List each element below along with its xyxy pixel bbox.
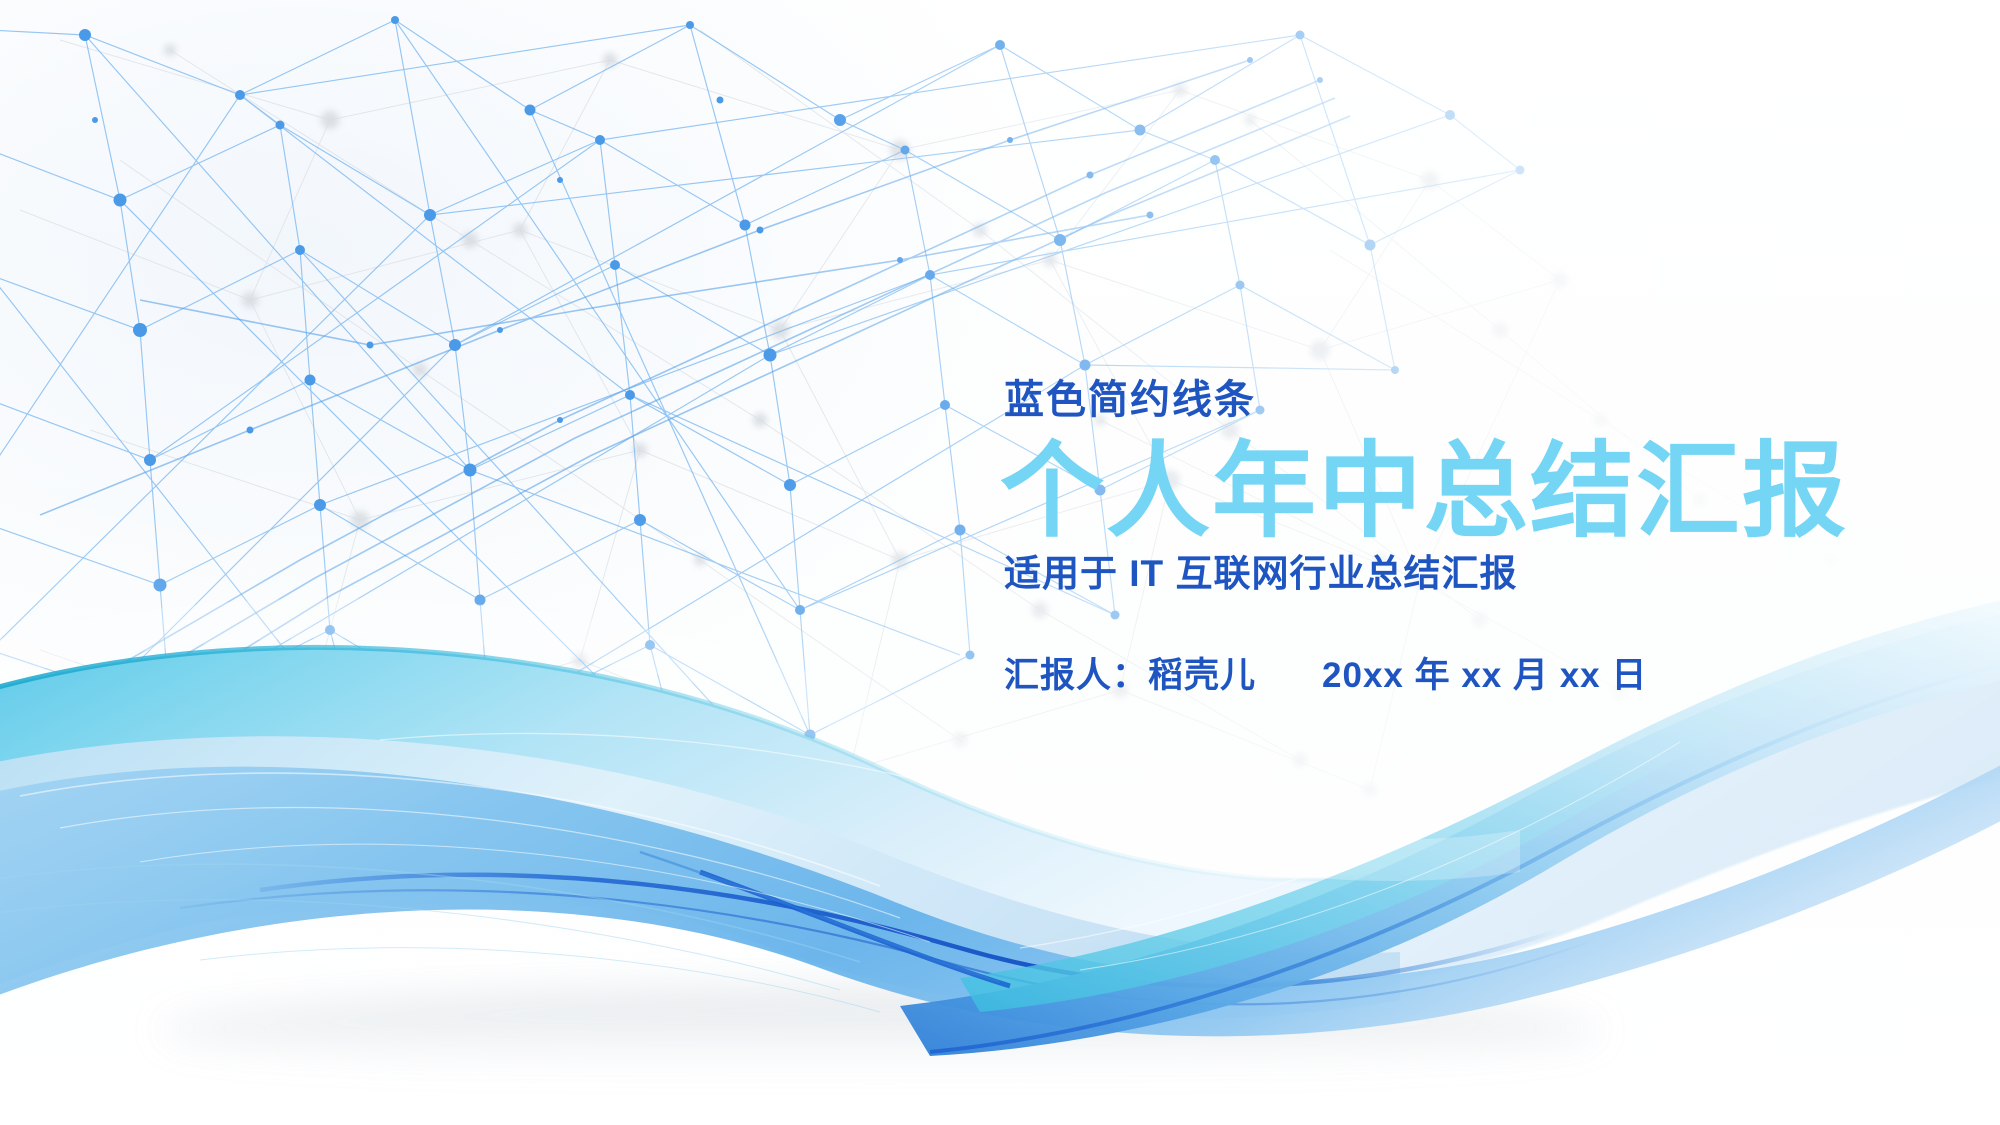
title-text-block: 蓝色简约线条 个人年中总结汇报 适用于 IT 互联网行业总结汇报 汇报人：稻壳儿…	[1000, 378, 1980, 698]
subtitle: 适用于 IT 互联网行业总结汇报	[1004, 552, 1980, 596]
page-title: 个人年中总结汇报	[1000, 436, 1980, 548]
title-slide: 蓝色简约线条 个人年中总结汇报 适用于 IT 互联网行业总结汇报 汇报人：稻壳儿…	[0, 0, 2000, 1125]
byline-row: 汇报人：稻壳儿20xx 年 xx 月 xx 日	[1004, 647, 1980, 698]
presenter-label: 汇报人：稻壳儿	[1004, 656, 1256, 695]
wave-drop-shadow	[160, 988, 1600, 1072]
eyebrow-heading: 蓝色简约线条	[1004, 378, 1980, 422]
date-label: 20xx 年 xx 月 xx 日	[1322, 656, 1647, 695]
